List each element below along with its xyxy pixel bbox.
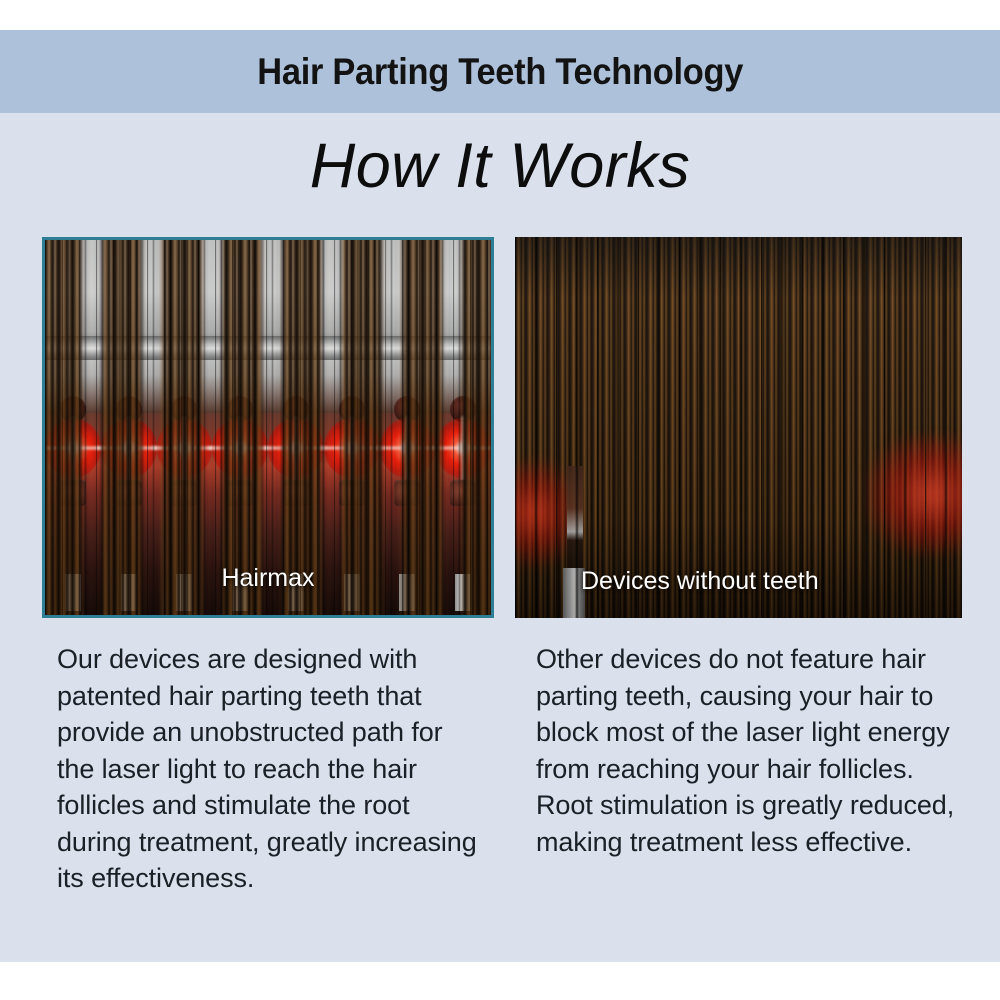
description-columns: Our devices are designed with patented h… bbox=[0, 641, 1000, 941]
laser-dot-icon bbox=[324, 418, 380, 478]
laser-dot-icon bbox=[212, 418, 268, 478]
diode bbox=[283, 480, 309, 506]
image-caption-other-devices: Devices without teeth bbox=[581, 567, 819, 596]
diode-row-lower bbox=[45, 473, 491, 514]
laser-glow-left-icon bbox=[515, 458, 579, 568]
diode bbox=[394, 480, 420, 506]
laser-dot-icon bbox=[157, 418, 213, 478]
header-band: Hair Parting Teeth Technology bbox=[0, 30, 1000, 113]
diode bbox=[60, 480, 86, 506]
description-hairmax: Our devices are designed with patented h… bbox=[57, 641, 487, 897]
comparison-cards: Hairmax Devices without teeth bbox=[42, 237, 962, 618]
laser-dot-icon bbox=[435, 418, 491, 478]
diode bbox=[227, 480, 253, 506]
description-other-devices: Other devices do not feature hair partin… bbox=[536, 641, 966, 860]
laser-device-illustration bbox=[45, 240, 491, 615]
laser-glow-right-icon bbox=[866, 435, 962, 555]
hairmax-photo bbox=[45, 240, 491, 615]
device-probe bbox=[567, 466, 583, 573]
laser-dot-icon bbox=[380, 418, 436, 478]
device-upper-housing bbox=[45, 240, 491, 413]
diode bbox=[116, 480, 142, 506]
comparison-card-other-devices: Devices without teeth bbox=[515, 237, 962, 618]
laser-dot-icon bbox=[45, 418, 101, 478]
diode bbox=[450, 480, 476, 506]
other-devices-photo bbox=[515, 237, 962, 618]
comparison-card-hairmax: Hairmax bbox=[42, 237, 494, 618]
body-panel: How It Works bbox=[0, 113, 1000, 962]
laser-dot-icon bbox=[101, 418, 157, 478]
page-title: Hair Parting Teeth Technology bbox=[257, 51, 743, 93]
diode bbox=[339, 480, 365, 506]
device-metal-bar bbox=[45, 336, 491, 360]
image-caption-hairmax: Hairmax bbox=[45, 564, 491, 593]
diode bbox=[171, 480, 197, 506]
infographic-root: Hair Parting Teeth Technology How It Wor… bbox=[0, 0, 1000, 1000]
laser-dot-icon bbox=[268, 418, 324, 478]
section-title: How It Works bbox=[0, 130, 1000, 202]
